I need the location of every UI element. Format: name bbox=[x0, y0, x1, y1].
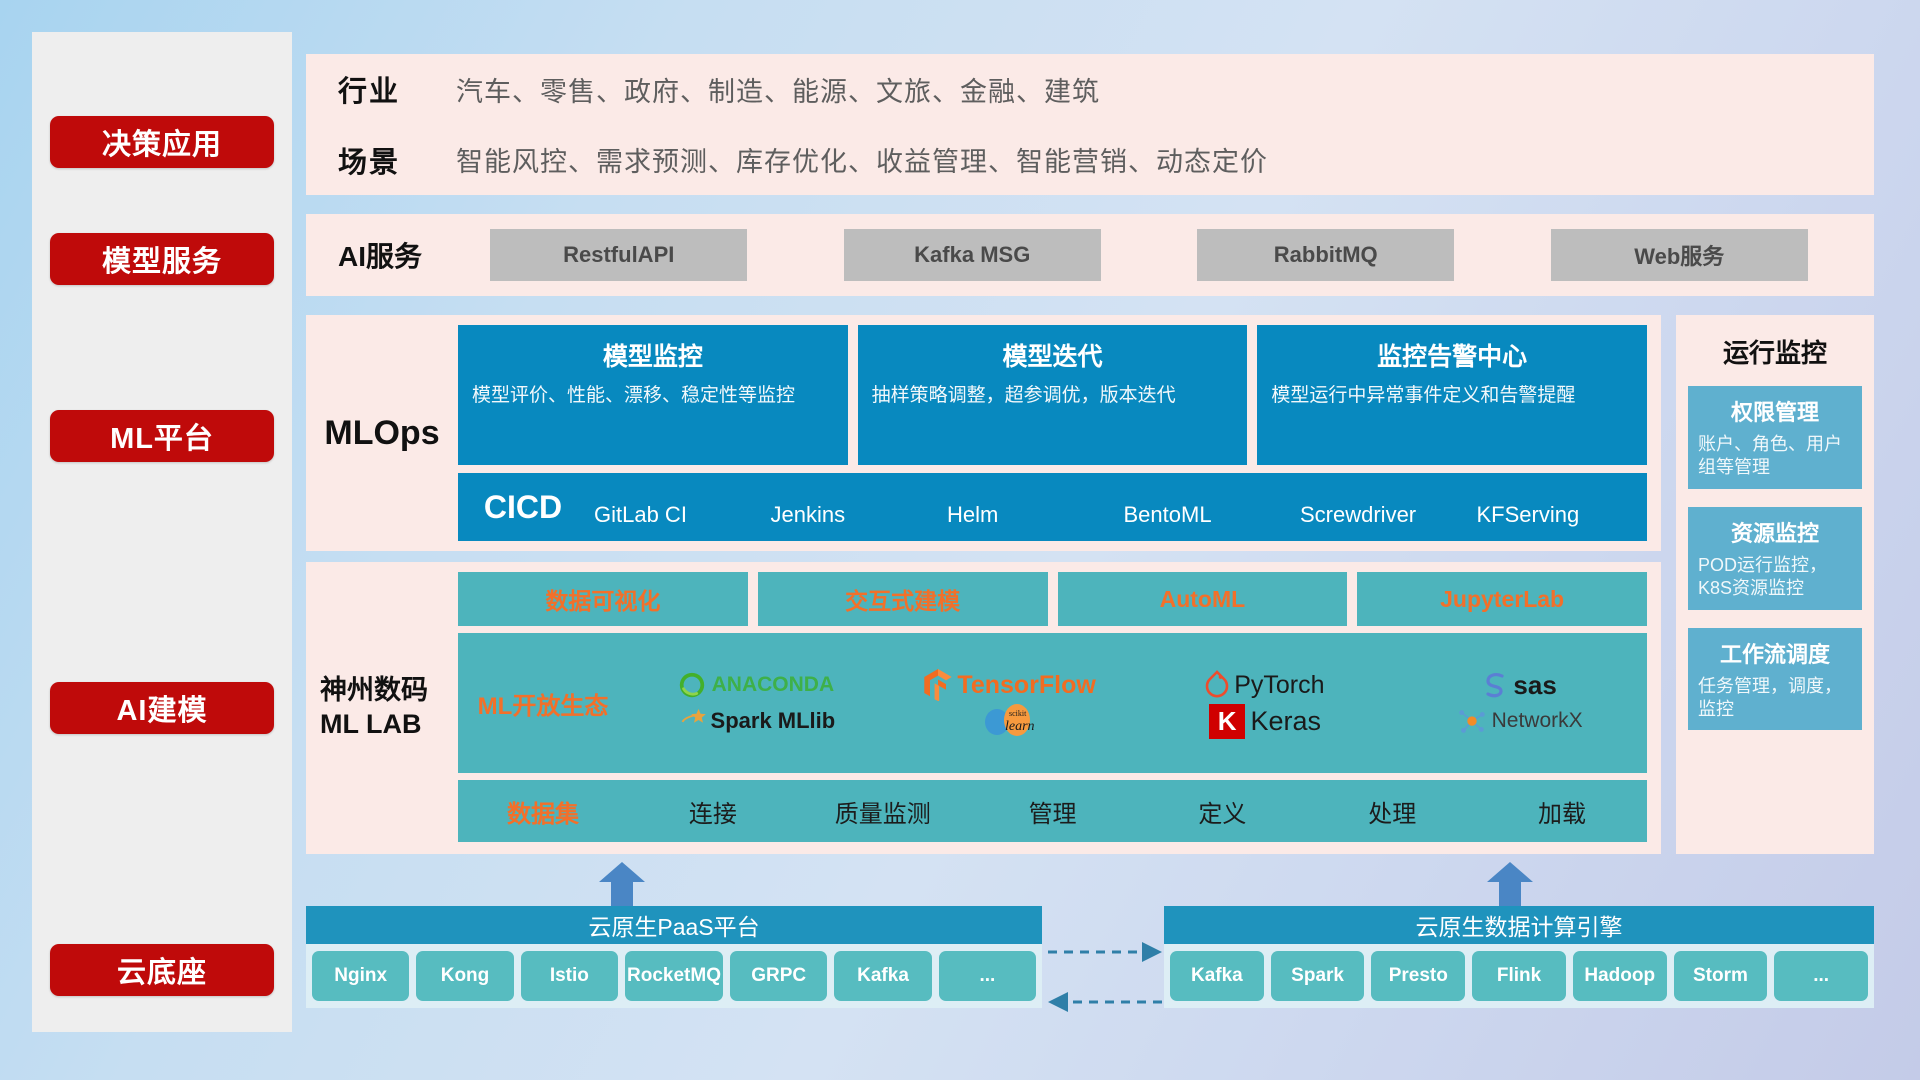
scikit-learn-mark-icon: scikit learn bbox=[981, 703, 1039, 739]
cicd-item-list: GitLab CI Jenkins Helm BentoML Screwdriv… bbox=[588, 486, 1647, 527]
mlops-card-alert-center[interactable]: 监控告警中心 模型运行中异常事件定义和告警提醒 bbox=[1257, 325, 1647, 465]
cloud-native-paas-group: 云原生PaaS平台 Nginx Kong Istio RocketMQ GRPC… bbox=[306, 906, 1042, 1008]
card-title: 资源监控 bbox=[1698, 516, 1852, 548]
engine-chip-storm[interactable]: Storm bbox=[1674, 951, 1768, 1001]
ml-lab-label-line1: 神州数码 bbox=[320, 674, 428, 708]
scenario-label: 场景 bbox=[338, 139, 456, 181]
rail-chip-ml-platform[interactable]: ML平台 bbox=[50, 410, 274, 462]
card-title: 工作流调度 bbox=[1698, 637, 1852, 669]
mlops-card-list: 模型监控 模型评价、性能、漂移、稳定性等监控 模型迭代 抽样策略调整，超参调优，… bbox=[458, 325, 1647, 465]
cicd-item-screwdriver[interactable]: Screwdriver bbox=[1294, 502, 1471, 527]
rail-chip-ai-modeling[interactable]: AI建模 bbox=[50, 682, 274, 734]
spark-star-icon bbox=[676, 706, 706, 736]
cicd-item-kfserving[interactable]: KFServing bbox=[1471, 502, 1648, 527]
cloud-engine-chip-list: Kafka Spark Presto Flink Hadoop Storm ..… bbox=[1164, 944, 1874, 1008]
monitor-card-permission[interactable]: 权限管理 账户、角色、用户组等管理 bbox=[1688, 386, 1862, 489]
pytorch-logo-text: PyTorch bbox=[1234, 671, 1324, 700]
cloud-chip-kong[interactable]: Kong bbox=[416, 951, 513, 1001]
ml-open-ecosystem-row: ML开放生态 ANACONDA bbox=[458, 633, 1647, 773]
card-desc: 抽样策略调整，超参调优，版本迭代 bbox=[872, 383, 1234, 408]
ai-service-items: RestfulAPI Kafka MSG RabbitMQ Web服务 bbox=[442, 229, 1874, 281]
keras-logo-text: Keras bbox=[1250, 706, 1321, 737]
card-title: 模型迭代 bbox=[872, 337, 1234, 373]
tool-chip-automl[interactable]: AutoML bbox=[1058, 572, 1348, 626]
engine-chip-presto[interactable]: Presto bbox=[1371, 951, 1465, 1001]
tensorflow-logo-text: TensorFlow bbox=[957, 671, 1095, 700]
cloud-chip-more[interactable]: ... bbox=[939, 951, 1036, 1001]
cloud-chip-nginx[interactable]: Nginx bbox=[312, 951, 409, 1001]
engine-chip-more[interactable]: ... bbox=[1774, 951, 1868, 1001]
spark-mllib-logo: Spark MLlib bbox=[676, 706, 836, 736]
industry-value: 汽车、零售、政府、制造、能源、文旅、金融、建筑 bbox=[456, 70, 1100, 109]
scikit-learn-logo: scikit learn bbox=[981, 703, 1039, 739]
cicd-item-jenkins[interactable]: Jenkins bbox=[765, 502, 942, 527]
mlops-content: 模型监控 模型评价、性能、漂移、稳定性等监控 模型迭代 抽样策略调整，超参调优，… bbox=[458, 315, 1661, 551]
ai-service-band: AI服务 RestfulAPI Kafka MSG RabbitMQ Web服务 bbox=[306, 214, 1874, 296]
cloud-engine-title: 云原生数据计算引擎 bbox=[1164, 906, 1874, 944]
ml-open-ecosystem-label: ML开放生态 bbox=[458, 686, 628, 721]
tensorflow-mark-icon bbox=[924, 669, 952, 701]
industry-row: 行业 汽车、零售、政府、制造、能源、文旅、金融、建筑 bbox=[306, 54, 1874, 125]
pytorch-logo: PyTorch bbox=[1205, 670, 1324, 700]
mlops-card-model-iteration[interactable]: 模型迭代 抽样策略调整，超参调优，版本迭代 bbox=[858, 325, 1248, 465]
mlops-card-model-monitoring[interactable]: 模型监控 模型评价、性能、漂移、稳定性等监控 bbox=[458, 325, 848, 465]
card-desc: POD运行监控，K8S资源监控 bbox=[1698, 554, 1852, 601]
ml-lab-content: 数据可视化 交互式建模 AutoML JupyterLab ML开放生态 ANA… bbox=[458, 562, 1661, 854]
engine-chip-spark[interactable]: Spark bbox=[1271, 951, 1365, 1001]
bidirectional-link-arrows bbox=[1046, 930, 1164, 1040]
card-title: 权限管理 bbox=[1698, 395, 1852, 427]
cicd-label: CICD bbox=[458, 489, 588, 526]
cloud-paas-chip-list: Nginx Kong Istio RocketMQ GRPC Kafka ... bbox=[306, 944, 1042, 1008]
cloud-chip-kafka[interactable]: Kafka bbox=[834, 951, 931, 1001]
cloud-chip-istio[interactable]: Istio bbox=[521, 951, 618, 1001]
up-arrow-to-ml-lab-icon bbox=[599, 862, 645, 906]
sas-logo: sas bbox=[1482, 670, 1556, 701]
svg-text:scikit: scikit bbox=[1009, 709, 1027, 718]
runtime-monitor-panel: 运行监控 权限管理 账户、角色、用户组等管理 资源监控 POD运行监控，K8S资… bbox=[1676, 315, 1874, 854]
tool-chip-interactive-modeling[interactable]: 交互式建模 bbox=[758, 572, 1048, 626]
sas-mark-icon bbox=[1482, 671, 1508, 699]
card-desc: 任务管理，调度，监控 bbox=[1698, 675, 1852, 722]
cicd-bar: CICD GitLab CI Jenkins Helm BentoML Scre… bbox=[458, 473, 1647, 541]
tool-chip-data-visualization[interactable]: 数据可视化 bbox=[458, 572, 748, 626]
cloud-chip-grpc[interactable]: GRPC bbox=[730, 951, 827, 1001]
ecosystem-logo-grid: ANACONDA TensorFlow bbox=[628, 667, 1647, 739]
pytorch-mark-icon bbox=[1205, 670, 1229, 700]
networkx-logo-text: NetworkX bbox=[1492, 709, 1583, 733]
ml-lab-tool-row: 数据可视化 交互式建模 AutoML JupyterLab bbox=[458, 572, 1647, 626]
anaconda-logo-text: ANACONDA bbox=[712, 673, 835, 697]
ai-service-chip-kafka-msg[interactable]: Kafka MSG bbox=[844, 229, 1101, 281]
tool-chip-jupyterlab[interactable]: JupyterLab bbox=[1357, 572, 1647, 626]
ml-lab-label-line2: ML LAB bbox=[320, 708, 422, 742]
ml-lab-band: 神州数码 ML LAB 数据可视化 交互式建模 AutoML JupyterLa… bbox=[306, 562, 1661, 854]
cloud-chip-rocketmq[interactable]: RocketMQ bbox=[625, 951, 723, 1001]
industry-label: 行业 bbox=[338, 68, 456, 110]
ml-lab-label: 神州数码 ML LAB bbox=[306, 562, 458, 854]
cicd-item-gitlab-ci[interactable]: GitLab CI bbox=[588, 502, 765, 527]
cicd-item-helm[interactable]: Helm bbox=[941, 502, 1118, 527]
dataset-label: 数据集 bbox=[458, 794, 628, 829]
card-desc: 模型运行中异常事件定义和告警提醒 bbox=[1271, 383, 1633, 408]
engine-chip-kafka[interactable]: Kafka bbox=[1170, 951, 1264, 1001]
dataset-item-define[interactable]: 定义 bbox=[1137, 794, 1307, 829]
svg-text:learn: learn bbox=[1005, 719, 1035, 734]
industry-scenario-band: 行业 汽车、零售、政府、制造、能源、文旅、金融、建筑 场景 智能风控、需求预测、… bbox=[306, 54, 1874, 195]
anaconda-mark-icon bbox=[677, 670, 707, 700]
sas-logo-text: sas bbox=[1513, 670, 1556, 701]
cloud-native-data-engine-group: 云原生数据计算引擎 Kafka Spark Presto Flink Hadoo… bbox=[1164, 906, 1874, 1008]
scenario-row: 场景 智能风控、需求预测、库存优化、收益管理、智能营销、动态定价 bbox=[306, 125, 1874, 196]
ai-service-chip-rabbitmq[interactable]: RabbitMQ bbox=[1197, 229, 1454, 281]
keras-logo: K Keras bbox=[1209, 704, 1321, 739]
dataset-item-process[interactable]: 处理 bbox=[1307, 794, 1477, 829]
dataset-item-list: 连接 质量监测 管理 定义 处理 加载 bbox=[628, 794, 1647, 829]
dataset-item-load[interactable]: 加载 bbox=[1477, 794, 1647, 829]
networkx-logo: NetworkX bbox=[1457, 706, 1583, 736]
up-arrow-to-dataset-icon bbox=[1487, 862, 1533, 906]
dataset-item-quality-monitoring[interactable]: 质量监测 bbox=[798, 794, 968, 829]
dataset-item-manage[interactable]: 管理 bbox=[968, 794, 1138, 829]
rail-chip-model-service[interactable]: 模型服务 bbox=[50, 233, 274, 285]
anaconda-logo: ANACONDA bbox=[677, 670, 835, 700]
runtime-monitor-title: 运行监控 bbox=[1688, 333, 1862, 370]
rail-chip-cloud-base[interactable]: 云底座 bbox=[50, 944, 274, 996]
spark-mllib-logo-text: Spark MLlib bbox=[711, 708, 836, 734]
dataset-item-connect[interactable]: 连接 bbox=[628, 794, 798, 829]
ai-service-chip-web-service[interactable]: Web服务 bbox=[1551, 229, 1808, 281]
card-title: 监控告警中心 bbox=[1271, 337, 1633, 373]
monitor-card-resource[interactable]: 资源监控 POD运行监控，K8S资源监控 bbox=[1688, 507, 1862, 610]
main-architecture-column: 行业 汽车、零售、政府、制造、能源、文旅、金融、建筑 场景 智能风控、需求预测、… bbox=[306, 0, 1920, 1080]
card-desc: 模型评价、性能、漂移、稳定性等监控 bbox=[472, 383, 834, 408]
card-desc: 账户、角色、用户组等管理 bbox=[1698, 433, 1852, 480]
mlops-label: MLOps bbox=[306, 315, 458, 551]
engine-chip-flink[interactable]: Flink bbox=[1472, 951, 1566, 1001]
left-rail-panel: 决策应用 模型服务 ML平台 AI建模 云底座 bbox=[32, 32, 292, 1032]
rail-chip-decision-app[interactable]: 决策应用 bbox=[50, 116, 274, 168]
ai-service-label: AI服务 bbox=[306, 235, 442, 275]
keras-mark-icon: K bbox=[1209, 704, 1246, 739]
monitor-card-workflow[interactable]: 工作流调度 任务管理，调度，监控 bbox=[1688, 628, 1862, 731]
ai-service-chip-restfulapi[interactable]: RestfulAPI bbox=[490, 229, 747, 281]
card-title: 模型监控 bbox=[472, 337, 834, 373]
scenario-value: 智能风控、需求预测、库存优化、收益管理、智能营销、动态定价 bbox=[456, 140, 1268, 179]
engine-chip-hadoop[interactable]: Hadoop bbox=[1573, 951, 1667, 1001]
cloud-paas-title: 云原生PaaS平台 bbox=[306, 906, 1042, 944]
networkx-mark-icon bbox=[1457, 706, 1487, 736]
cicd-item-bentoml[interactable]: BentoML bbox=[1118, 502, 1295, 527]
mlops-band: MLOps 模型监控 模型评价、性能、漂移、稳定性等监控 模型迭代 抽样策略调整… bbox=[306, 315, 1661, 551]
tensorflow-logo: TensorFlow bbox=[924, 669, 1095, 701]
dataset-row: 数据集 连接 质量监测 管理 定义 处理 加载 bbox=[458, 780, 1647, 842]
